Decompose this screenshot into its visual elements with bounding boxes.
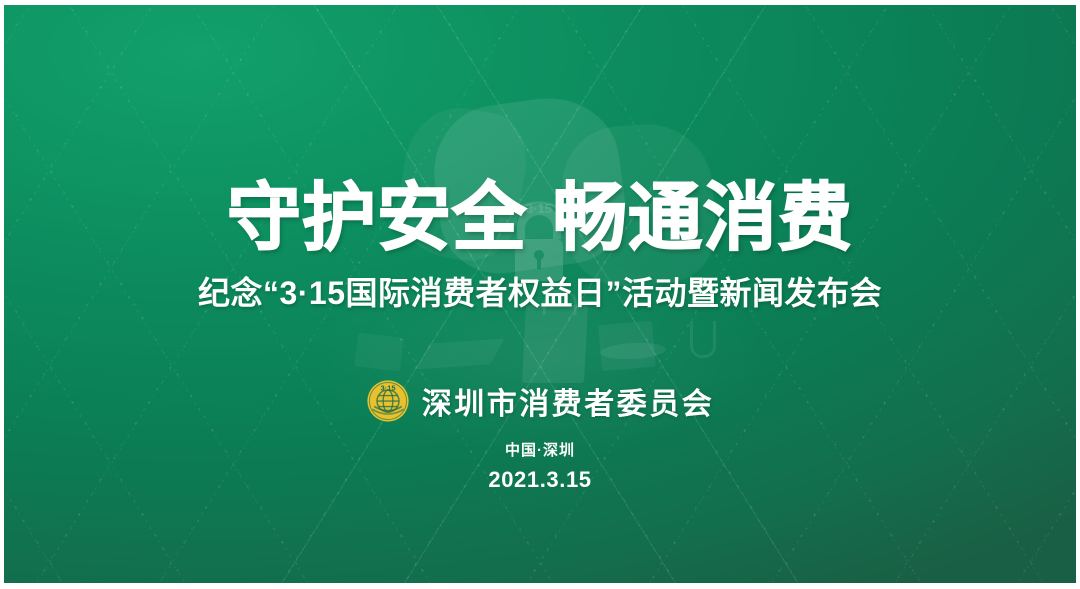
subtitle: 纪念“3·15国际消费者权益日”活动暨新闻发布会 <box>198 274 882 312</box>
main-title: 守护安全畅通消费 <box>227 178 853 258</box>
main-title-part1: 守护安全 <box>227 176 527 259</box>
poster-content: 守护安全畅通消费 纪念“3·15国际消费者权益日”活动暨新闻发布会 3·15 深… <box>4 5 1076 583</box>
organization-block: 3·15 深圳市消费者委员会 <box>366 379 715 423</box>
event-date: 2021.3.15 <box>488 467 591 493</box>
svg-text:3·15: 3·15 <box>380 384 395 393</box>
event-location: 中国·深圳 <box>505 439 575 460</box>
main-title-part2: 畅通消费 <box>553 176 853 259</box>
poster-stage: 3·15 守护安全畅通消费 纪念“3·15国际消费者权益日”活动暨新闻发布会 <box>4 5 1076 583</box>
organization-name: 深圳市消费者委员会 <box>422 379 715 423</box>
consumer-council-315-globe-icon: 3·15 <box>366 379 410 423</box>
poster-frame: 3·15 守护安全畅通消费 纪念“3·15国际消费者权益日”活动暨新闻发布会 <box>0 0 1080 589</box>
